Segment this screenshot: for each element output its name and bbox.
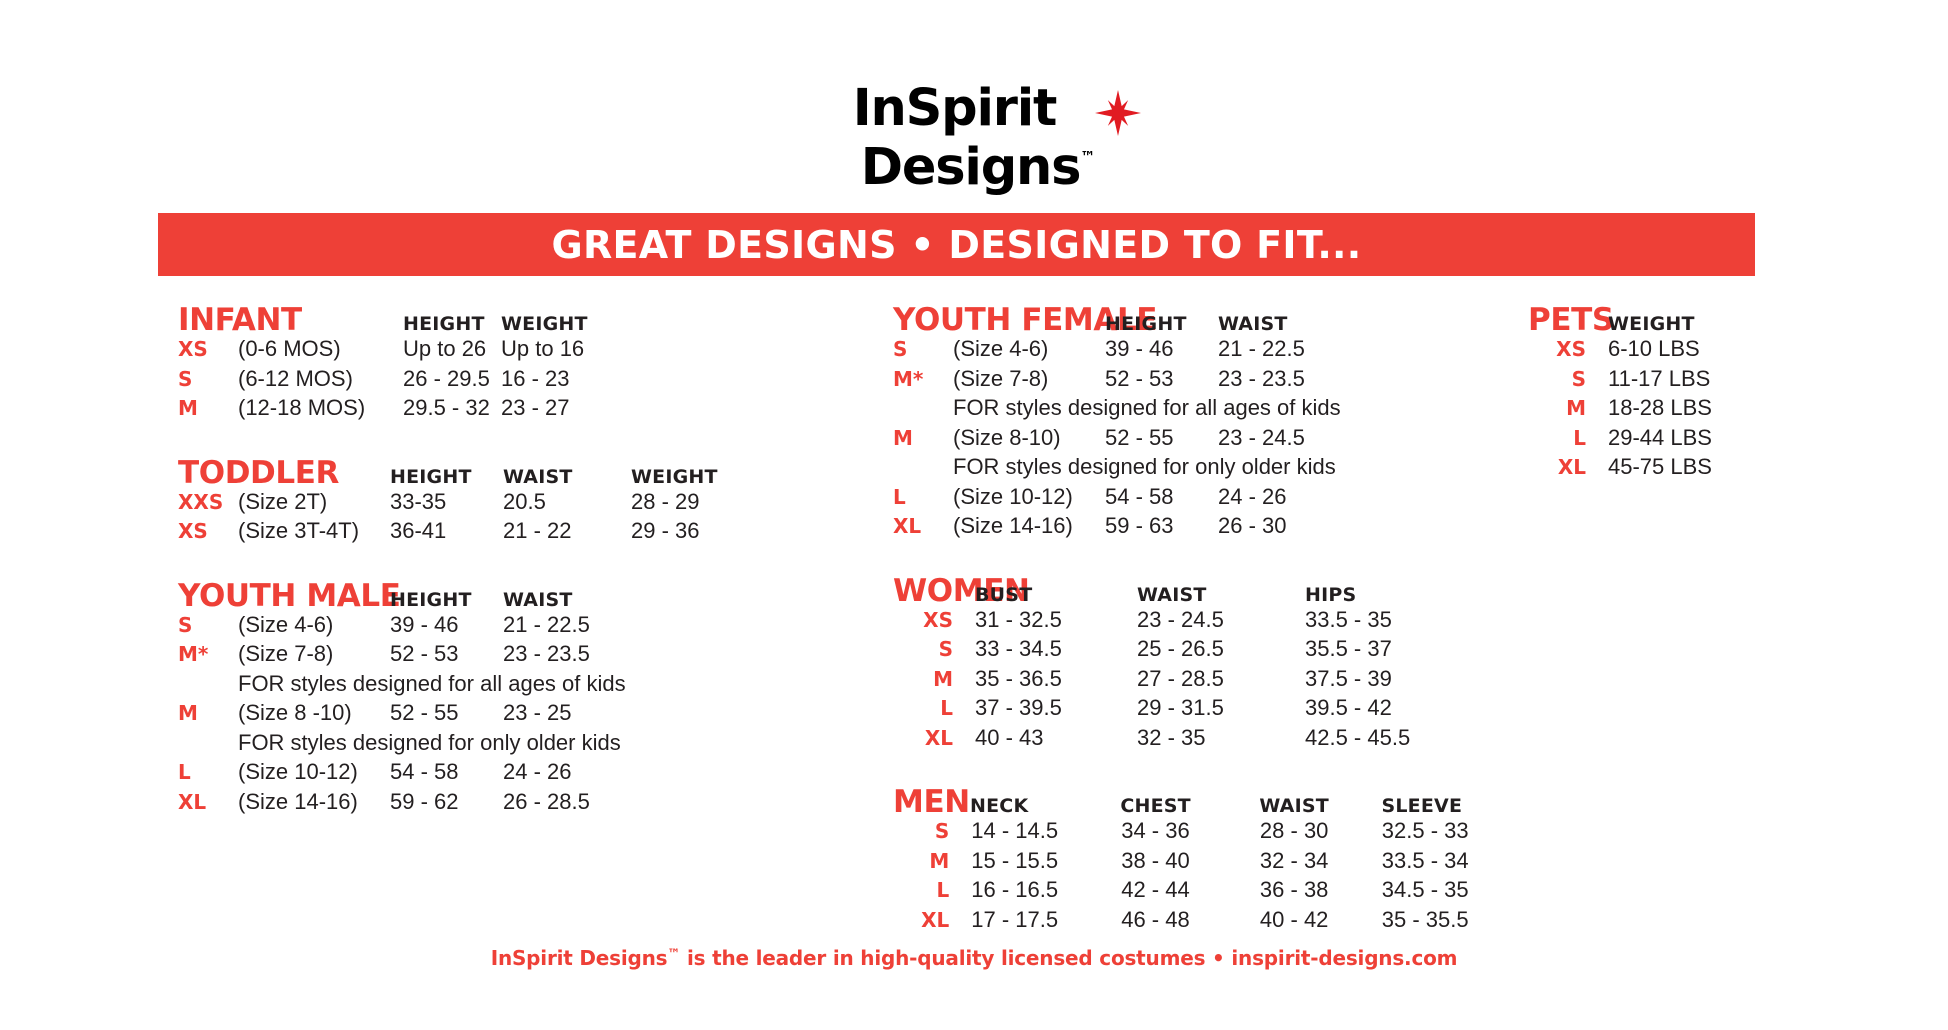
note-older-kids: FOR styles designed for only older kids: [953, 454, 1336, 480]
size-label: L: [1528, 426, 1608, 450]
waist-cell: 23 - 23.5: [1218, 366, 1358, 392]
chest-cell: 34 - 36: [1121, 818, 1260, 844]
waist-cell: 27 - 28.5: [1137, 666, 1305, 692]
weight-cell: 16 - 23: [501, 366, 621, 392]
size-label: L: [893, 485, 953, 509]
table-row: M 18-28 LBS: [1528, 395, 1908, 425]
hips-cell: 37.5 - 39: [1305, 666, 1475, 692]
waist-cell: 23 - 23.5: [503, 641, 643, 667]
size-label: XS: [893, 608, 975, 632]
waist-cell: 26 - 30: [1218, 513, 1358, 539]
table-row: L 37 - 39.5 29 - 31.5 39.5 - 42: [893, 695, 1513, 725]
waist-cell: 23 - 24.5: [1137, 607, 1305, 633]
column-header-height: HEIGHT: [403, 313, 501, 335]
height-cell: Up to 26: [403, 336, 501, 362]
sleeve-cell: 35 - 35.5: [1382, 907, 1513, 933]
column-header-waist: WAIST: [503, 466, 631, 488]
weight-cell: 28 - 29: [631, 489, 751, 515]
waist-cell: 28 - 30: [1260, 818, 1382, 844]
weight-cell: 29-44 LBS: [1608, 425, 1808, 451]
waist-cell: 21 - 22.5: [1218, 336, 1358, 362]
section-title-men: MEN: [893, 784, 970, 820]
waist-cell: 25 - 26.5: [1137, 636, 1305, 662]
section-women: WOMEN BUST WAIST HIPS XS 31 - 32.5 23 - …: [893, 573, 1513, 755]
column-header-waist: WAIST: [1218, 313, 1358, 335]
waist-cell: 24 - 26: [1218, 484, 1358, 510]
size-label: M: [178, 396, 238, 420]
size-label: S: [893, 637, 975, 661]
column-header-waist: WAIST: [1259, 795, 1381, 817]
table-row: S 33 - 34.5 25 - 26.5 35.5 - 37: [893, 636, 1513, 666]
table-row: S 14 - 14.5 34 - 36 28 - 30 32.5 - 33: [893, 818, 1513, 848]
waist-cell: 36 - 38: [1260, 877, 1382, 903]
age-cell: (Size 7-8): [953, 366, 1105, 392]
logo-line-designs: Designs™: [853, 133, 1096, 192]
size-label: XS: [178, 337, 238, 361]
height-cell: 36-41: [390, 518, 503, 544]
size-label: M: [893, 667, 975, 691]
weight-cell: 23 - 27: [501, 395, 621, 421]
table-row: S (Size 4-6) 39 - 46 21 - 22.5: [178, 612, 878, 642]
column-left: INFANT HEIGHT WEIGHT XS (0-6 MOS) Up to …: [178, 302, 878, 818]
table-row: L 29-44 LBS: [1528, 425, 1908, 455]
table-note-row: FOR styles designed for only older kids: [893, 454, 1513, 484]
section-spacer: [893, 543, 1513, 573]
section-youth-male: YOUTH MALE HEIGHT WAIST S (Size 4-6) 39 …: [178, 578, 878, 819]
footer-tagline: InSpirit Designs™ is the leader in high-…: [491, 946, 1458, 970]
section-header-row: YOUTH FEMALE HEIGHT WAIST: [893, 302, 1513, 336]
footer-trademark: ™: [667, 947, 680, 962]
size-label: XS: [178, 519, 238, 543]
height-cell: 52 - 53: [390, 641, 503, 667]
age-cell: (Size 14-16): [953, 513, 1105, 539]
waist-cell: 26 - 28.5: [503, 789, 643, 815]
hips-cell: 35.5 - 37: [1305, 636, 1475, 662]
size-label: XL: [1528, 455, 1608, 479]
column-header-height: HEIGHT: [390, 466, 503, 488]
section-spacer: [893, 754, 1513, 784]
section-infant: INFANT HEIGHT WEIGHT XS (0-6 MOS) Up to …: [178, 302, 878, 425]
age-cell: (Size 14-16): [238, 789, 390, 815]
column-header-chest: CHEST: [1120, 795, 1259, 817]
table-row: M* (Size 7-8) 52 - 53 23 - 23.5: [178, 641, 878, 671]
table-row: M (12-18 MOS) 29.5 - 32 23 - 27: [178, 395, 878, 425]
size-label: M: [893, 849, 971, 873]
neck-cell: 15 - 15.5: [971, 848, 1121, 874]
table-row: XS 31 - 32.5 23 - 24.5 33.5 - 35: [893, 607, 1513, 637]
column-header-bust: BUST: [975, 584, 1137, 606]
column-header-weight: WEIGHT: [1608, 313, 1808, 335]
note-older-kids: FOR styles designed for only older kids: [238, 730, 621, 756]
age-cell: (Size 4-6): [238, 612, 390, 638]
column-header-waist: WAIST: [503, 589, 643, 611]
chest-cell: 38 - 40: [1121, 848, 1260, 874]
section-header-row: PETS WEIGHT: [1528, 302, 1908, 336]
column-middle: YOUTH FEMALE HEIGHT WAIST S (Size 4-6) 3…: [893, 302, 1513, 936]
size-label: S: [1528, 367, 1608, 391]
table-row: M 35 - 36.5 27 - 28.5 37.5 - 39: [893, 666, 1513, 696]
bust-cell: 33 - 34.5: [975, 636, 1137, 662]
age-cell: (Size 10-12): [953, 484, 1105, 510]
table-note-row: FOR styles designed for only older kids: [178, 730, 878, 760]
bust-cell: 35 - 36.5: [975, 666, 1137, 692]
size-label: XL: [178, 790, 238, 814]
section-header-row: WOMEN BUST WAIST HIPS: [893, 573, 1513, 607]
weight-cell: 6-10 LBS: [1608, 336, 1808, 362]
section-spacer: [178, 548, 878, 578]
section-title-youth-female: YOUTH FEMALE: [893, 302, 1105, 338]
neck-cell: 16 - 16.5: [971, 877, 1121, 903]
note-all-ages: FOR styles designed for all ages of kids: [953, 395, 1341, 421]
table-row: XL (Size 14-16) 59 - 63 26 - 30: [893, 513, 1513, 543]
weight-cell: 18-28 LBS: [1608, 395, 1808, 421]
column-header-neck: NECK: [970, 795, 1120, 817]
section-spacer: [178, 425, 878, 455]
column-header-sleeve: SLEEVE: [1381, 795, 1513, 817]
table-row: XL 17 - 17.5 46 - 48 40 - 42 35 - 35.5: [893, 907, 1513, 937]
weight-cell: 11-17 LBS: [1608, 366, 1808, 392]
bust-cell: 37 - 39.5: [975, 695, 1137, 721]
table-row: L (Size 10-12) 54 - 58 24 - 26: [178, 759, 878, 789]
size-label: XS: [1528, 337, 1608, 361]
note-all-ages: FOR styles designed for all ages of kids: [238, 671, 626, 697]
section-title-pets: PETS: [1528, 302, 1608, 338]
height-cell: 52 - 55: [1105, 425, 1218, 451]
table-row: S (Size 4-6) 39 - 46 21 - 22.5: [893, 336, 1513, 366]
height-cell: 59 - 62: [390, 789, 503, 815]
waist-cell: 21 - 22.5: [503, 612, 643, 638]
table-row: XL 45-75 LBS: [1528, 454, 1908, 484]
weight-cell: Up to 16: [501, 336, 621, 362]
age-cell: (Size 8 -10): [238, 700, 390, 726]
size-label: S: [178, 613, 238, 637]
neck-cell: 17 - 17.5: [971, 907, 1121, 933]
age-cell: (Size 3T-4T): [238, 518, 390, 544]
section-pets: PETS WEIGHT XS 6-10 LBS S 11-17 LBS M 18…: [1528, 302, 1908, 484]
sleeve-cell: 32.5 - 33: [1382, 818, 1513, 844]
height-cell: 39 - 46: [1105, 336, 1218, 362]
size-label: XXS: [178, 490, 238, 514]
height-cell: 29.5 - 32: [403, 395, 501, 421]
age-cell: (Size 2T): [238, 489, 390, 515]
size-label: M: [178, 701, 238, 725]
footer: InSpirit Designs™ is the leader in high-…: [0, 946, 1948, 970]
section-header-row: MEN NECK CHEST WAIST SLEEVE: [893, 784, 1513, 818]
hips-cell: 42.5 - 45.5: [1305, 725, 1475, 751]
age-cell: (Size 4-6): [953, 336, 1105, 362]
chest-cell: 42 - 44: [1121, 877, 1260, 903]
waist-cell: 20.5: [503, 489, 631, 515]
size-label: S: [893, 819, 971, 843]
waist-cell: 32 - 34: [1260, 848, 1382, 874]
table-row: L (Size 10-12) 54 - 58 24 - 26: [893, 484, 1513, 514]
section-header-row: TODDLER HEIGHT WAIST WEIGHT: [178, 455, 878, 489]
table-row: M 15 - 15.5 38 - 40 32 - 34 33.5 - 34: [893, 848, 1513, 878]
size-label: XL: [893, 726, 975, 750]
waist-cell: 29 - 31.5: [1137, 695, 1305, 721]
column-header-waist: WAIST: [1137, 584, 1305, 606]
height-cell: 59 - 63: [1105, 513, 1218, 539]
table-row: S 11-17 LBS: [1528, 366, 1908, 396]
height-cell: 39 - 46: [390, 612, 503, 638]
table-row: M* (Size 7-8) 52 - 53 23 - 23.5: [893, 366, 1513, 396]
column-header-weight: WEIGHT: [501, 313, 621, 335]
section-youth-female: YOUTH FEMALE HEIGHT WAIST S (Size 4-6) 3…: [893, 302, 1513, 543]
logo-line-inspirit: InSpirit: [853, 84, 1096, 133]
size-label: XL: [893, 514, 953, 538]
table-note-row: FOR styles designed for all ages of kids: [893, 395, 1513, 425]
height-cell: 54 - 58: [1105, 484, 1218, 510]
section-title-infant: INFANT: [178, 302, 403, 338]
weight-cell: 45-75 LBS: [1608, 454, 1808, 480]
height-cell: 33-35: [390, 489, 503, 515]
section-title-youth-male: YOUTH MALE: [178, 578, 390, 614]
age-cell: (0-6 MOS): [238, 336, 403, 362]
waist-cell: 40 - 42: [1260, 907, 1382, 933]
column-header-hips: HIPS: [1305, 584, 1475, 606]
sleeve-cell: 33.5 - 34: [1382, 848, 1513, 874]
bust-cell: 40 - 43: [975, 725, 1137, 751]
age-cell: (Size 10-12): [238, 759, 390, 785]
chest-cell: 46 - 48: [1121, 907, 1260, 933]
size-label: M: [1528, 396, 1608, 420]
age-cell: (Size 8-10): [953, 425, 1105, 451]
table-row: XXS (Size 2T) 33-35 20.5 28 - 29: [178, 489, 878, 519]
height-cell: 52 - 53: [1105, 366, 1218, 392]
header-banner: GREAT DESIGNS • DESIGNED TO FIT...: [158, 213, 1755, 276]
waist-cell: 32 - 35: [1137, 725, 1305, 751]
hips-cell: 33.5 - 35: [1305, 607, 1475, 633]
column-header-weight: WEIGHT: [631, 466, 751, 488]
brand-logo: InSpirit Designs™: [0, 84, 1948, 192]
table-row: XS (Size 3T-4T) 36-41 21 - 22 29 - 36: [178, 518, 878, 548]
starburst-icon: [1095, 90, 1141, 136]
size-label: L: [178, 760, 238, 784]
waist-cell: 21 - 22: [503, 518, 631, 544]
table-row: L 16 - 16.5 42 - 44 36 - 38 34.5 - 35: [893, 877, 1513, 907]
waist-cell: 23 - 25: [503, 700, 643, 726]
hips-cell: 39.5 - 42: [1305, 695, 1475, 721]
age-cell: (6-12 MOS): [238, 366, 403, 392]
table-row: XL (Size 14-16) 59 - 62 26 - 28.5: [178, 789, 878, 819]
waist-cell: 23 - 24.5: [1218, 425, 1358, 451]
table-row: S (6-12 MOS) 26 - 29.5 16 - 23: [178, 366, 878, 396]
sleeve-cell: 34.5 - 35: [1382, 877, 1513, 903]
size-label: L: [893, 696, 975, 720]
age-cell: (Size 7-8): [238, 641, 390, 667]
weight-cell: 29 - 36: [631, 518, 751, 544]
size-label: L: [893, 878, 971, 902]
footer-rest: is the leader in high-quality licensed c…: [680, 946, 1457, 970]
logo-trademark: ™: [1080, 148, 1095, 166]
table-row: XS 6-10 LBS: [1528, 336, 1908, 366]
section-title-women: WOMEN: [893, 573, 975, 609]
column-header-height: HEIGHT: [390, 589, 503, 611]
neck-cell: 14 - 14.5: [971, 818, 1121, 844]
bust-cell: 31 - 32.5: [975, 607, 1137, 633]
table-row: XS (0-6 MOS) Up to 26 Up to 16: [178, 336, 878, 366]
banner-title: GREAT DESIGNS • DESIGNED TO FIT...: [551, 223, 1361, 267]
column-header-height: HEIGHT: [1105, 313, 1218, 335]
table-row: XL 40 - 43 32 - 35 42.5 - 45.5: [893, 725, 1513, 755]
section-men: MEN NECK CHEST WAIST SLEEVE S 14 - 14.5 …: [893, 784, 1513, 936]
section-header-row: YOUTH MALE HEIGHT WAIST: [178, 578, 878, 612]
footer-brand: InSpirit Designs: [491, 946, 668, 970]
waist-cell: 24 - 26: [503, 759, 643, 785]
column-right: PETS WEIGHT XS 6-10 LBS S 11-17 LBS M 18…: [1528, 302, 1908, 484]
size-label: XL: [893, 908, 971, 932]
height-cell: 52 - 55: [390, 700, 503, 726]
size-chart-columns: INFANT HEIGHT WEIGHT XS (0-6 MOS) Up to …: [0, 302, 1948, 922]
height-cell: 54 - 58: [390, 759, 503, 785]
age-cell: (12-18 MOS): [238, 395, 403, 421]
section-title-toddler: TODDLER: [178, 455, 390, 491]
size-label: M: [893, 426, 953, 450]
height-cell: 26 - 29.5: [403, 366, 501, 392]
table-row: M (Size 8-10) 52 - 55 23 - 24.5: [893, 425, 1513, 455]
size-label: M*: [893, 367, 953, 391]
table-row: M (Size 8 -10) 52 - 55 23 - 25: [178, 700, 878, 730]
size-label: S: [893, 337, 953, 361]
size-label: M*: [178, 642, 238, 666]
table-note-row: FOR styles designed for all ages of kids: [178, 671, 878, 701]
section-header-row: INFANT HEIGHT WEIGHT: [178, 302, 878, 336]
logo-inner: InSpirit Designs™: [853, 84, 1096, 192]
section-toddler: TODDLER HEIGHT WAIST WEIGHT XXS (Size 2T…: [178, 455, 878, 548]
size-label: S: [178, 367, 238, 391]
